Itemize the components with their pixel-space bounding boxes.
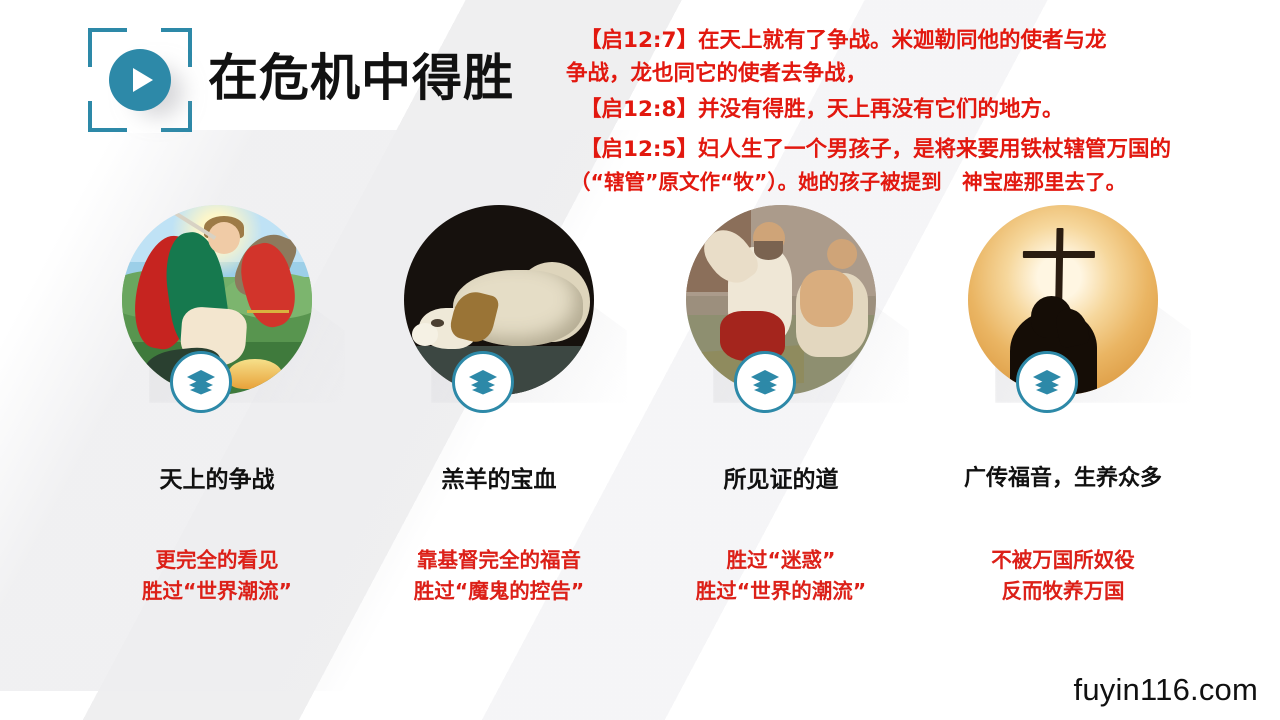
card-caption-line-1: 靠基督完全的福音 — [359, 545, 639, 576]
card-caption: 胜过“迷惑” 胜过“世界的潮流” — [641, 545, 921, 607]
card-label: 羔羊的宝血 — [379, 460, 619, 494]
presentation-slide: 在危机中得胜 【启12:7】在天上就有了争战。米迦勒同他的使者与龙 争战，龙也同… — [0, 0, 1280, 720]
layers-stack-icon[interactable] — [734, 351, 796, 413]
card-caption-line-1: 胜过“迷惑” — [641, 545, 921, 576]
logo — [88, 28, 192, 132]
scripture-block: 【启12:7】在天上就有了争战。米迦勒同他的使者与龙 争战，龙也同它的使者去争战… — [566, 26, 1272, 199]
layers-stack-icon[interactable] — [1016, 351, 1078, 413]
card-caption-line-2: 胜过“魔鬼的控告” — [359, 576, 639, 607]
scripture-line-2: 争战，龙也同它的使者去争战， — [566, 59, 1272, 89]
layers-stack-icon[interactable] — [452, 351, 514, 413]
card-caption: 靠基督完全的福音 胜过“魔鬼的控告” — [359, 545, 639, 607]
scripture-line-4: 【启12:5】妇人生了一个男孩子，是将来要用铁杖辖管万国的 — [566, 135, 1272, 165]
card-label: 所见证的道 — [661, 460, 901, 494]
logo-frame-gap-bottom — [127, 126, 161, 133]
page-title: 在危机中得胜 — [208, 38, 514, 110]
site-watermark: fuyin116.com — [1074, 672, 1258, 708]
card-caption-line-1: 更完全的看见 — [77, 545, 357, 576]
scripture-line-1: 【启12:7】在天上就有了争战。米迦勒同他的使者与龙 — [566, 26, 1272, 56]
play-triangle-icon — [133, 68, 153, 92]
card-caption: 不被万国所奴役 反而牧养万国 — [923, 545, 1203, 607]
scripture-line-5: （“辖管”原文作“牧”）。她的孩子被提到 神宝座那里去了。 — [566, 168, 1272, 196]
card-caption-line-1: 不被万国所奴役 — [923, 545, 1203, 576]
card-caption-line-2: 胜过“世界的潮流” — [641, 576, 921, 607]
scripture-line-3: 【启12:8】并没有得胜，天上再没有它们的地方。 — [566, 95, 1272, 125]
card-caption-line-2: 反而牧养万国 — [923, 576, 1203, 607]
card-label: 天上的争战 — [97, 460, 337, 494]
card-row: 天上的争战 更完全的看见 胜过“世界潮流” — [0, 205, 1280, 625]
logo-frame-gap-top — [127, 27, 161, 34]
card-label: 广传福音，生养众多 — [943, 460, 1183, 492]
card-caption-line-2: 胜过“世界潮流” — [77, 576, 357, 607]
card-caption: 更完全的看见 胜过“世界潮流” — [77, 545, 357, 607]
play-button-icon[interactable] — [109, 49, 171, 111]
layers-stack-icon[interactable] — [170, 351, 232, 413]
